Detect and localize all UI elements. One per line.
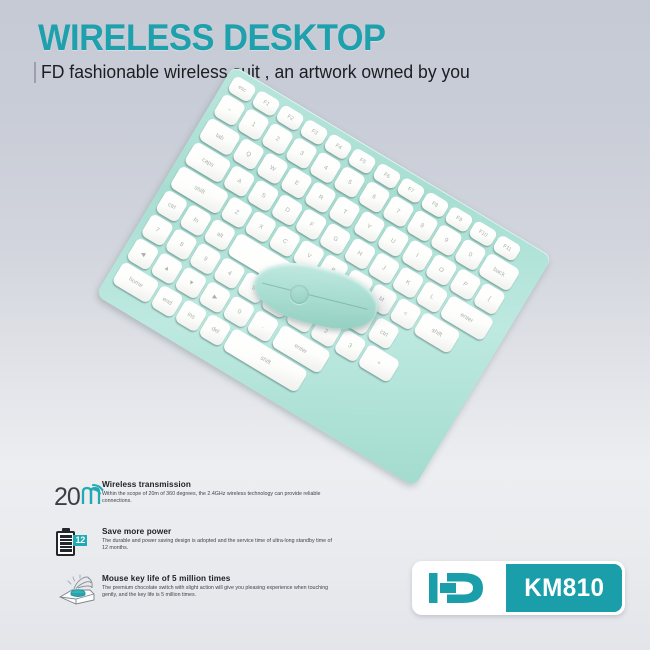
battery-cell [60,535,72,538]
feature-title: Save more power [102,527,334,536]
feature-description: The durable and power saving design is a… [102,538,334,553]
product-image: esc F1 F2 F3 F4 F5 F6 F7 F8 F9 F10 F11 ~… [0,112,650,472]
model-number: KM810 [524,574,604,603]
feature-title: Mouse key life of 5 million times [102,574,334,583]
battery-cell [60,546,72,549]
battery-cell [60,549,72,552]
feature-item-key-life: Mouse key life of 5 million times The pr… [54,572,384,608]
battery-cell [60,539,72,542]
page-title: WIRELESS DESKTOP [38,19,386,56]
badge-model-area: KM810 [506,564,622,612]
feature-text: Wireless transmission Within the scope o… [102,478,334,505]
feature-item-wireless: 20 Wireless transmission Within the scop… [54,478,384,514]
key: + [357,343,401,383]
feature-text: Save more power The durable and power sa… [102,525,334,552]
badge-inner: KM810 [415,564,622,612]
status-badge: KM810 [412,561,625,615]
feature-description: The premium chocolate switch with slight… [102,585,334,600]
subtitle-block: FD fashionable wireless suit , an artwor… [34,61,492,83]
feature-title: Wireless transmission [102,480,334,489]
battery-icon: 12 [54,525,102,561]
product-poster: WIRELESS DESKTOP FD fashionable wireless… [0,0,650,650]
battery-months-badge: 12 [73,535,87,546]
feature-item-power: 12 Save more power The durable and power… [54,525,384,561]
feature-description: Within the scope of 20m of 360 degrees, … [102,491,334,506]
wireless-signal-icon: 20 [54,478,102,514]
feature-list: 20 Wireless transmission Within the scop… [54,478,384,619]
subtitle-divider [34,62,36,83]
finger-press-key-icon [54,572,102,608]
signal-wave-m-icon [81,483,105,505]
feature-text: Mouse key life of 5 million times The pr… [102,572,334,599]
battery-cell [60,542,72,545]
fd-logo-icon [415,564,506,612]
wireless-range-value: 20 [54,485,80,510]
